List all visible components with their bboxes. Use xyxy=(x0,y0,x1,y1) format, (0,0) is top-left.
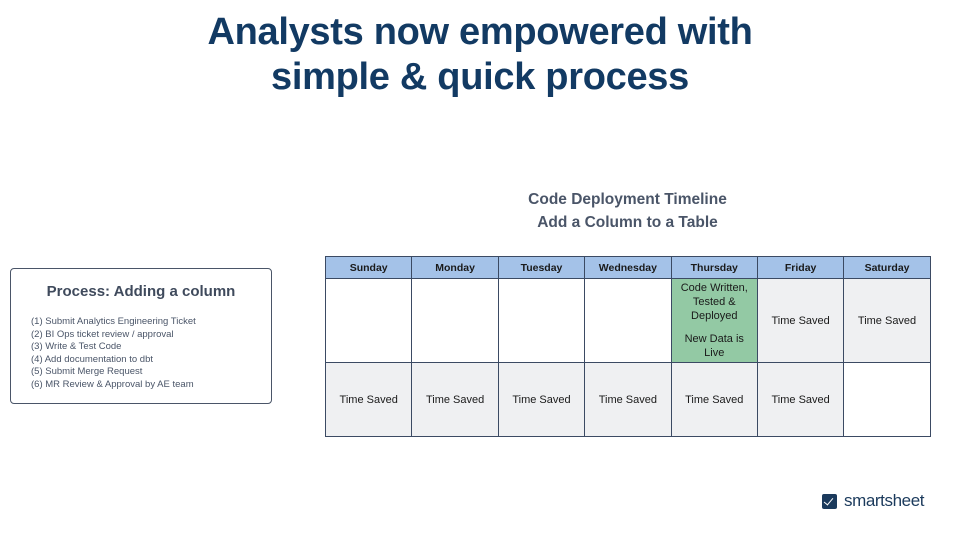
cell-row1-friday: Time Saved xyxy=(757,279,843,363)
cell-row1-wednesday xyxy=(585,279,671,363)
page-title-line-1: Analysts now empowered with xyxy=(0,10,960,55)
deployment-text-line-3: Deployed xyxy=(691,310,737,322)
deployment-text-line-5: Live xyxy=(704,347,724,359)
cell-row1-saturday: Time Saved xyxy=(844,279,930,363)
cell-row1-tuesday xyxy=(498,279,584,363)
cell-row2-thursday: Time Saved xyxy=(671,363,757,437)
process-card-title: Process: Adding a column xyxy=(23,283,259,300)
cell-row2-tuesday: Time Saved xyxy=(498,363,584,437)
timeline-heading-line-1: Code Deployment Timeline xyxy=(325,188,930,211)
column-header-friday: Friday xyxy=(757,257,843,279)
page-title: Analysts now empowered with simple & qui… xyxy=(0,10,960,100)
cell-row2-sunday: Time Saved xyxy=(326,363,412,437)
page-title-line-2: simple & quick process xyxy=(0,55,960,100)
column-header-saturday: Saturday xyxy=(844,257,930,279)
list-item: (5) Submit Merge Request xyxy=(31,366,259,379)
column-header-tuesday: Tuesday xyxy=(498,257,584,279)
deployment-text-line-4: New Data is xyxy=(685,333,744,345)
timeline-heading: Code Deployment Timeline Add a Column to… xyxy=(325,188,930,235)
list-item: (6) MR Review & Approval by AE team xyxy=(31,379,259,392)
code-deployment-timeline-table: Sunday Monday Tuesday Wednesday Thursday… xyxy=(325,256,931,437)
cell-row2-saturday-blank xyxy=(844,363,930,437)
process-card: Process: Adding a column (1) Submit Anal… xyxy=(10,268,272,404)
list-item: (4) Add documentation to dbt xyxy=(31,354,259,367)
smartsheet-logo-text: smartsheet xyxy=(844,491,924,511)
table-header-row: Sunday Monday Tuesday Wednesday Thursday… xyxy=(326,257,931,279)
table-row: Time Saved Time Saved Time Saved Time Sa… xyxy=(326,363,931,437)
list-item: (1) Submit Analytics Engineering Ticket xyxy=(31,316,259,329)
cell-row1-monday xyxy=(412,279,498,363)
cell-row1-sunday xyxy=(326,279,412,363)
column-header-monday: Monday xyxy=(412,257,498,279)
cell-row2-monday: Time Saved xyxy=(412,363,498,437)
cell-row2-friday: Time Saved xyxy=(757,363,843,437)
cell-row2-wednesday: Time Saved xyxy=(585,363,671,437)
smartsheet-logo: smartsheet xyxy=(822,491,924,511)
column-header-thursday: Thursday xyxy=(671,257,757,279)
spacer xyxy=(674,323,755,332)
deployment-text-line-1: Code Written, xyxy=(681,282,748,294)
table-row: Code Written, Tested & Deployed New Data… xyxy=(326,279,931,363)
column-header-sunday: Sunday xyxy=(326,257,412,279)
cell-row1-thursday-deployment: Code Written, Tested & Deployed New Data… xyxy=(671,279,757,363)
process-step-list: (1) Submit Analytics Engineering Ticket … xyxy=(23,316,259,392)
list-item: (3) Write & Test Code xyxy=(31,341,259,354)
timeline-heading-line-2: Add a Column to a Table xyxy=(325,211,930,234)
column-header-wednesday: Wednesday xyxy=(585,257,671,279)
deployment-text-line-2: Tested & xyxy=(693,296,736,308)
checkbox-check-icon xyxy=(822,494,837,509)
list-item: (2) BI Ops ticket review / approval xyxy=(31,329,259,342)
